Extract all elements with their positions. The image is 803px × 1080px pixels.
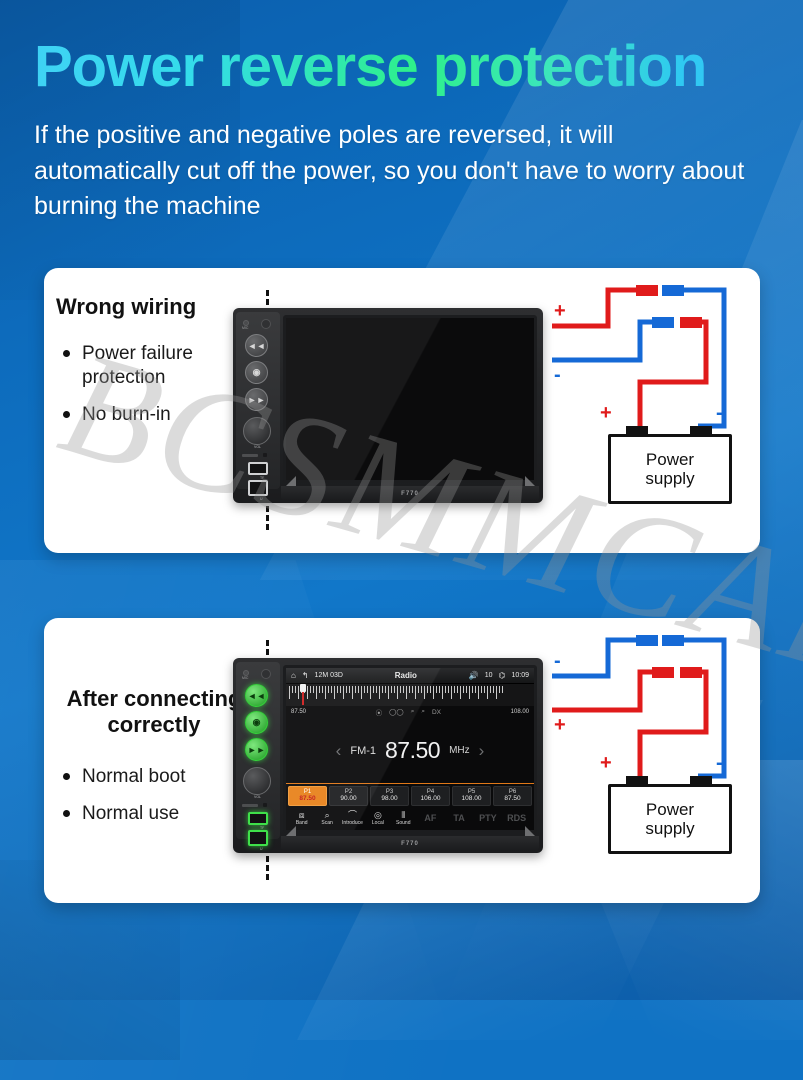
list-item: Normal use (56, 802, 252, 826)
ta-flag[interactable]: TA (445, 806, 474, 830)
scale-tick (361, 686, 362, 699)
unit-positive-sign: + (554, 714, 566, 737)
band-label: FM-1 (350, 745, 376, 757)
scale-labels-row: 87.50 ⦿ ◯◯ ⌕ ⌕ DX 108.00 (286, 706, 534, 718)
scale-tick (487, 686, 488, 699)
scale-ticks (289, 686, 531, 702)
scale-tick (472, 686, 473, 693)
scale-tick (466, 686, 467, 693)
screen-glare (286, 318, 534, 480)
status-date: 12M 03D (315, 672, 343, 679)
volume-knob[interactable] (243, 417, 271, 445)
introduce-label: Introduce (340, 820, 365, 826)
scale-tick (478, 686, 479, 699)
scale-tick (388, 686, 389, 699)
band-button[interactable]: ⧈ Band (289, 810, 314, 826)
device-side-panel: MIC ◄◄ ◉ ►► VOL TF U (236, 312, 280, 489)
scale-tick (379, 686, 380, 699)
psu-label-line2: supply (645, 819, 694, 838)
scale-tick (463, 686, 464, 693)
scale-tick (307, 686, 308, 699)
scale-min-label: 87.50 (291, 709, 306, 715)
usb-label: U (260, 847, 263, 851)
scale-tick (391, 686, 392, 693)
scale-tick (445, 686, 446, 693)
unit-negative-sign: - (554, 364, 561, 387)
scale-tick (475, 686, 476, 693)
wiring-diagram-correct: - + + - Power supply (548, 628, 760, 893)
search-icon: ⌕ (314, 810, 339, 820)
chevron-right-icon[interactable]: › (479, 741, 485, 761)
page-subtitle: If the positive and negative poles are r… (34, 118, 764, 225)
scale-tick (403, 686, 404, 693)
preset-button-p2[interactable]: P2 90.00 (329, 786, 368, 806)
scale-tick (295, 686, 296, 693)
radio-status-bar: ⌂ ↰ 12M 03D Radio 🔊 10 ⌬ 10:09 (286, 668, 534, 684)
scan-label: Scan (314, 820, 339, 826)
scan-button[interactable]: ⌕ Scan (314, 810, 339, 826)
radio-app: ⌂ ↰ 12M 03D Radio 🔊 10 ⌬ 10:09 87.50 (286, 668, 534, 830)
preset-button-p1[interactable]: P1 87.50 (288, 786, 327, 806)
device-footer: F770 (281, 486, 539, 501)
scale-tick (451, 686, 452, 699)
scale-tick (292, 686, 293, 693)
tf-port[interactable] (248, 462, 268, 475)
volume-icon[interactable]: 🔊 (469, 671, 479, 680)
preset-value: 90.00 (330, 795, 367, 802)
equalizer-icon: ⦀ (391, 810, 416, 820)
device-body: MIC ◄◄ ◉ ►► VOL TF U F770 (233, 308, 543, 503)
preset-button-p5[interactable]: P5 108.00 (452, 786, 491, 806)
reset-button[interactable] (261, 669, 271, 679)
tf-card-slot[interactable] (242, 454, 258, 457)
device-model-label: F770 (401, 841, 419, 847)
scale-tick (355, 686, 356, 693)
scale-tick (406, 686, 407, 699)
radio-title: Radio (395, 671, 417, 680)
knob-label: VOL (254, 445, 261, 449)
mic-label: MIC (242, 326, 248, 330)
scale-tick (418, 686, 419, 693)
card-wrong-bullets: Power failure protection No burn-in (56, 342, 252, 426)
battery-negative-sign: - (716, 402, 723, 425)
usb-label: U (260, 497, 263, 501)
tf-port[interactable] (248, 812, 268, 825)
scale-tick (412, 686, 413, 693)
bluetooth-icon: ⌬ (498, 671, 505, 680)
scale-tick (436, 686, 437, 693)
scale-tick (376, 686, 377, 693)
head-unit-device-off: MIC ◄◄ ◉ ►► VOL TF U F770 (233, 308, 543, 503)
home-icon[interactable]: ⌂ (291, 671, 296, 680)
scale-tick (316, 686, 317, 699)
card-wrong-text: Wrong wiring Power failure protection No… (44, 268, 262, 553)
next-track-icon[interactable]: ►► (245, 738, 268, 761)
scale-tick (415, 686, 416, 699)
page-title: Power reverse protection (34, 38, 769, 96)
local-label: Local (365, 820, 390, 826)
power-supply-box: Power supply (608, 784, 732, 854)
device-mic-row: MIC (241, 317, 276, 331)
preset-value: 87.50 (289, 795, 326, 802)
scale-tick (409, 686, 410, 693)
scale-tick (421, 686, 422, 693)
af-flag[interactable]: AF (416, 806, 445, 830)
battery-positive-sign: + (600, 402, 612, 425)
preset-button-p4[interactable]: P4 106.00 (411, 786, 450, 806)
cd-icon: ◯◯ (389, 708, 404, 716)
mic-label: MIC (242, 676, 248, 680)
next-track-icon[interactable]: ►► (245, 388, 268, 411)
scale-tick (442, 686, 443, 699)
battery-negative-sign: - (716, 752, 723, 775)
battery-positive-sign: + (600, 752, 612, 775)
back-arrow-icon[interactable]: ↰ (302, 671, 309, 680)
scale-tick (469, 686, 470, 699)
tuning-needle-icon (302, 685, 304, 705)
scale-tick (427, 686, 428, 693)
scale-tick (439, 686, 440, 693)
scale-tick (433, 686, 434, 699)
scale-tick (457, 686, 458, 693)
status-clock: 10:09 (511, 672, 529, 679)
power-supply-box: Power supply (608, 434, 732, 504)
preset-value: 108.00 (453, 795, 490, 802)
device-mic-row: MIC (241, 667, 276, 681)
local-icon: ◎ (365, 810, 390, 820)
scale-tick (328, 686, 329, 693)
scale-tick (394, 686, 395, 693)
card-correct-text: After connecting correctly Normal boot N… (44, 618, 262, 903)
current-frequency: 87.50 (385, 737, 440, 764)
scale-tick (325, 686, 326, 699)
scale-max-label: 108.00 (511, 709, 529, 715)
chevron-left-icon[interactable]: ‹ (336, 741, 342, 761)
scale-tick (313, 686, 314, 693)
scale-tick (397, 686, 398, 699)
tf-card-slot[interactable] (242, 804, 258, 807)
list-item: No burn-in (56, 403, 252, 427)
scale-tick (373, 686, 374, 693)
header: Power reverse protection If the positive… (0, 0, 803, 225)
preset-value: 98.00 (371, 795, 408, 802)
introduce-button[interactable]: ⌒ Introduce (340, 810, 365, 826)
seek-up-icon[interactable]: ⌕ (421, 708, 425, 716)
list-item: Power failure protection (56, 342, 252, 390)
pty-flag[interactable]: PTY (473, 806, 502, 830)
wiring-diagram-reversed: + - + - Power supply (548, 278, 760, 543)
head-unit-device-on: MIC ◄◄ ◉ ►► VOL TF U ⌂ ↰ 12M 03D R (233, 658, 543, 853)
scale-tick (370, 686, 371, 699)
scale-tick (322, 686, 323, 693)
scale-tick (289, 686, 290, 699)
device-body: MIC ◄◄ ◉ ►► VOL TF U ⌂ ↰ 12M 03D R (233, 658, 543, 853)
volume-level: 10 (485, 672, 493, 679)
sound-button[interactable]: ⦀ Sound (391, 810, 416, 826)
scale-tick (502, 686, 503, 693)
preset-row: P1 87.50 P2 90.00 P3 98.00 P4 106.00 (286, 783, 534, 806)
preset-button-p3[interactable]: P3 98.00 (370, 786, 409, 806)
prev-track-icon[interactable]: ◄◄ (245, 684, 268, 707)
scale-tick (493, 686, 494, 693)
scale-tick (298, 686, 299, 699)
scale-tick (352, 686, 353, 699)
mode-icon[interactable]: ◉ (245, 711, 268, 734)
scale-tick (349, 686, 350, 693)
scale-tick (460, 686, 461, 699)
scale-tick (484, 686, 485, 693)
card-wrong-heading: Wrong wiring (56, 294, 252, 320)
radio-toolbar: ⧈ Band ⌕ Scan ⌒ Introduce ◎ Local (286, 806, 534, 830)
psu-label-line1: Power (646, 800, 694, 819)
scale-tick (343, 686, 344, 699)
sound-label: Sound (391, 820, 416, 826)
preset-value: 106.00 (412, 795, 449, 802)
scale-tick (319, 686, 320, 693)
scale-tick (340, 686, 341, 693)
knob-label: VOL (254, 795, 261, 799)
preset-button-p6[interactable]: P6 87.50 (493, 786, 532, 806)
psu-label-line2: supply (645, 469, 694, 488)
scale-tick (358, 686, 359, 693)
card-correct-heading: After connecting correctly (56, 686, 252, 739)
dx-label: DX (432, 709, 441, 716)
usb-port[interactable] (248, 830, 268, 846)
scale-tick (331, 686, 332, 693)
frequency-scale[interactable] (286, 684, 534, 706)
scale-tick (454, 686, 455, 693)
device-screen-off (283, 315, 537, 483)
stereo-icon: ⦿ (376, 707, 383, 717)
scale-tick (430, 686, 431, 693)
scale-tick (400, 686, 401, 693)
unit-negative-sign: - (554, 650, 561, 673)
scale-tick (499, 686, 500, 693)
scale-tick (424, 686, 425, 699)
scale-tick (385, 686, 386, 693)
card-correct-bullets: Normal boot Normal use (56, 765, 252, 826)
device-model-label: F770 (401, 491, 419, 497)
usb-port[interactable] (248, 480, 268, 496)
device-footer: F770 (281, 836, 539, 851)
seek-down-icon[interactable]: ⌕ (411, 708, 415, 716)
band-icon: ⧈ (289, 810, 314, 820)
headphones-icon: ⌒ (340, 810, 365, 820)
prev-track-icon[interactable]: ◄◄ (245, 334, 268, 357)
scale-tick (382, 686, 383, 693)
scale-tick (334, 686, 335, 699)
reset-button[interactable] (261, 319, 271, 329)
device-side-panel: MIC ◄◄ ◉ ►► VOL TF U (236, 662, 280, 839)
scale-tick (310, 686, 311, 693)
scale-tick (346, 686, 347, 693)
indicator-dot-icon (263, 803, 267, 807)
mode-icon[interactable]: ◉ (245, 361, 268, 384)
scale-tick (367, 686, 368, 693)
local-button[interactable]: ◎ Local (365, 810, 390, 826)
scale-tick (496, 686, 497, 699)
radio-indicator-icons: ⦿ ◯◯ ⌕ ⌕ DX (376, 707, 441, 717)
scale-tick (448, 686, 449, 693)
device-screen-on: ⌂ ↰ 12M 03D Radio 🔊 10 ⌬ 10:09 87.50 (283, 665, 537, 833)
scale-tick (364, 686, 365, 693)
unit-positive-sign: + (554, 300, 566, 323)
volume-knob[interactable] (243, 767, 271, 795)
tuner-display: ‹ FM-1 87.50 MHz › (286, 718, 534, 783)
scale-tick (481, 686, 482, 693)
frequency-unit: MHz (449, 745, 470, 756)
indicator-dot-icon (263, 453, 267, 457)
psu-label-line1: Power (646, 450, 694, 469)
preset-value: 87.50 (494, 795, 531, 802)
scale-tick (490, 686, 491, 693)
list-item: Normal boot (56, 765, 252, 789)
scale-tick (337, 686, 338, 693)
